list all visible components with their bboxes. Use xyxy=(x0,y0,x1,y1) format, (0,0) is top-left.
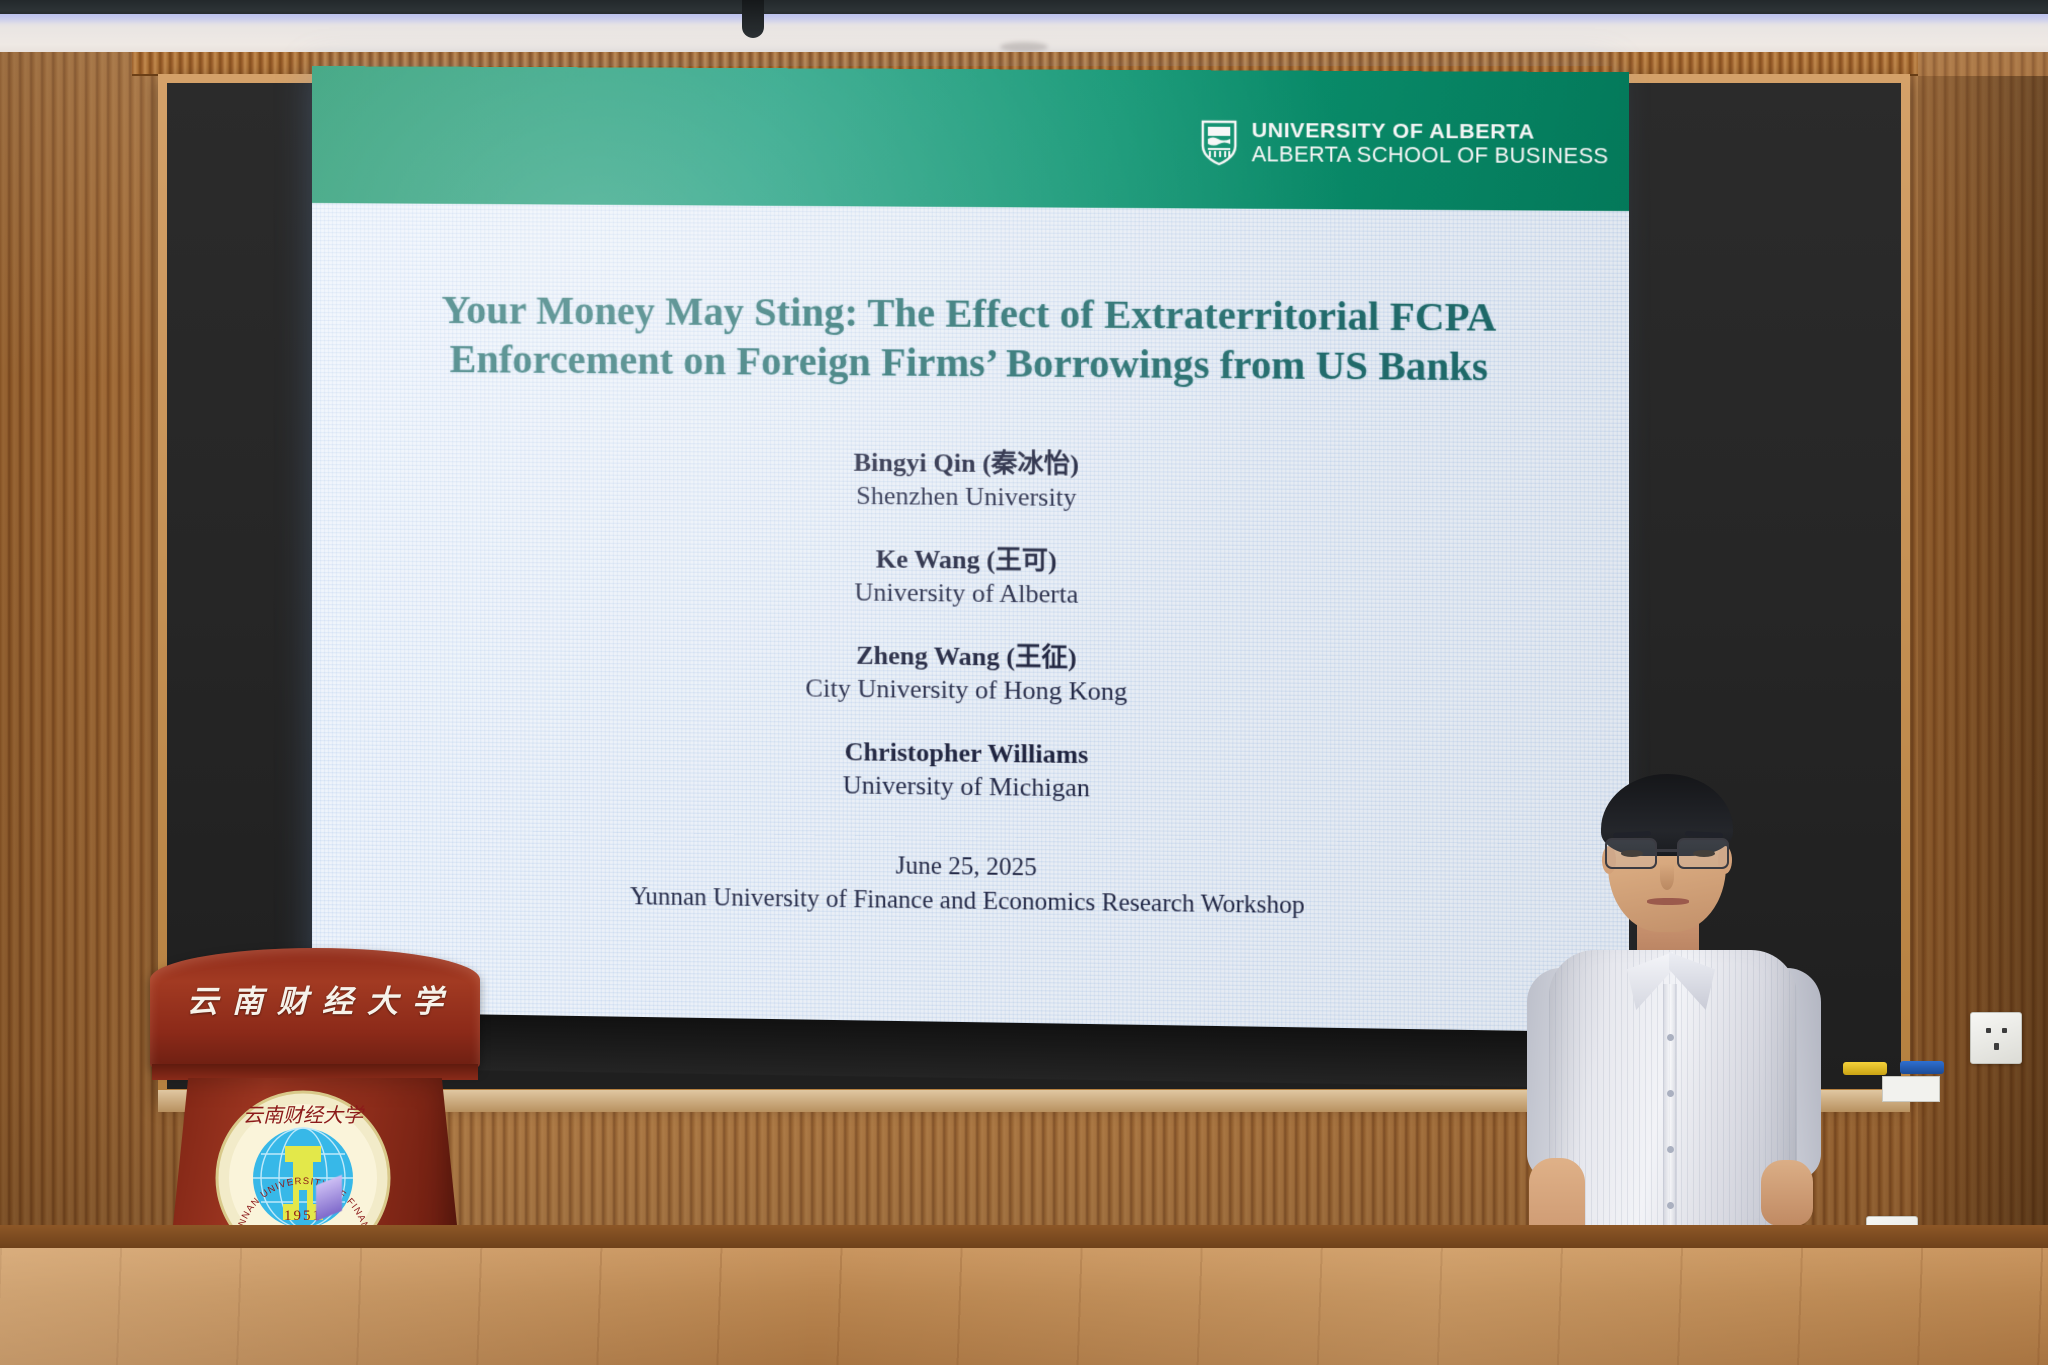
outlet-slot xyxy=(2002,1028,2007,1033)
presenter-shirt-button xyxy=(1667,1202,1674,1209)
floor-reflection xyxy=(0,1248,2048,1365)
slide-title: Your Money May Sting: The Effect of Extr… xyxy=(366,285,1574,392)
ua-logo-line1: UNIVERSITY OF ALBERTA xyxy=(1252,120,1609,143)
ua-logo-line2: ALBERTA SCHOOL OF BUSINESS xyxy=(1252,144,1609,168)
presentation-slide: UNIVERSITY OF ALBERTA ALBERTA SCHOOL OF … xyxy=(312,66,1629,1048)
lecture-hall-scene: UNIVERSITY OF ALBERTA ALBERTA SCHOOL OF … xyxy=(0,0,2048,1365)
slide-footer: June 25, 2025 Yunnan University of Finan… xyxy=(366,843,1574,927)
presenter-shirt-button xyxy=(1667,1090,1674,1097)
university-of-alberta-logo: UNIVERSITY OF ALBERTA ALBERTA SCHOOL OF … xyxy=(1201,119,1609,168)
eyeglass-bridge xyxy=(1657,849,1677,852)
ceiling-cove-light xyxy=(0,14,2048,24)
eyeglass-lens-right xyxy=(1677,838,1729,869)
slide-body: Your Money May Sting: The Effect of Extr… xyxy=(312,203,1629,1048)
lectern-shelf xyxy=(152,1064,478,1080)
presenter-hand-right xyxy=(1761,1160,1813,1226)
ceiling-smudge xyxy=(1000,42,1048,52)
lectern-university-name: 云南财经大学 xyxy=(150,976,480,1021)
author-list: Bingyi Qin (秦冰怡) Shenzhen University Ke … xyxy=(366,441,1574,811)
board-label xyxy=(1882,1076,1940,1102)
author-entry: Christopher Williams University of Michi… xyxy=(366,729,1574,811)
blue-marker-icon xyxy=(1900,1061,1944,1074)
presenter-shirt-button xyxy=(1667,1146,1674,1153)
projection-screen: UNIVERSITY OF ALBERTA ALBERTA SCHOOL OF … xyxy=(312,66,1612,1029)
outlet-slot xyxy=(1986,1028,1991,1033)
ua-logo-text: UNIVERSITY OF ALBERTA ALBERTA SCHOOL OF … xyxy=(1252,120,1609,168)
presenter-mouth xyxy=(1647,898,1689,905)
author-entry: Bingyi Qin (秦冰怡) Shenzhen University xyxy=(366,441,1574,519)
outlet-slot xyxy=(1994,1043,1999,1050)
wall-outlet-upper[interactable] xyxy=(1970,1012,2022,1064)
author-entry: Zheng Wang (王征) City University of Hong … xyxy=(366,633,1574,714)
svg-text:云南财经大学: 云南财经大学 xyxy=(243,1105,365,1127)
presenter-nose xyxy=(1660,864,1674,890)
eyeglass-lens-left xyxy=(1605,838,1657,869)
author-entry: Ke Wang (王可) University of Alberta xyxy=(366,537,1574,616)
slide-header-band: UNIVERSITY OF ALBERTA ALBERTA SCHOOL OF … xyxy=(312,66,1629,211)
presenter-shirt-button xyxy=(1667,1034,1674,1041)
ua-shield-icon xyxy=(1201,119,1238,166)
ceiling-sensor-icon xyxy=(742,0,764,38)
